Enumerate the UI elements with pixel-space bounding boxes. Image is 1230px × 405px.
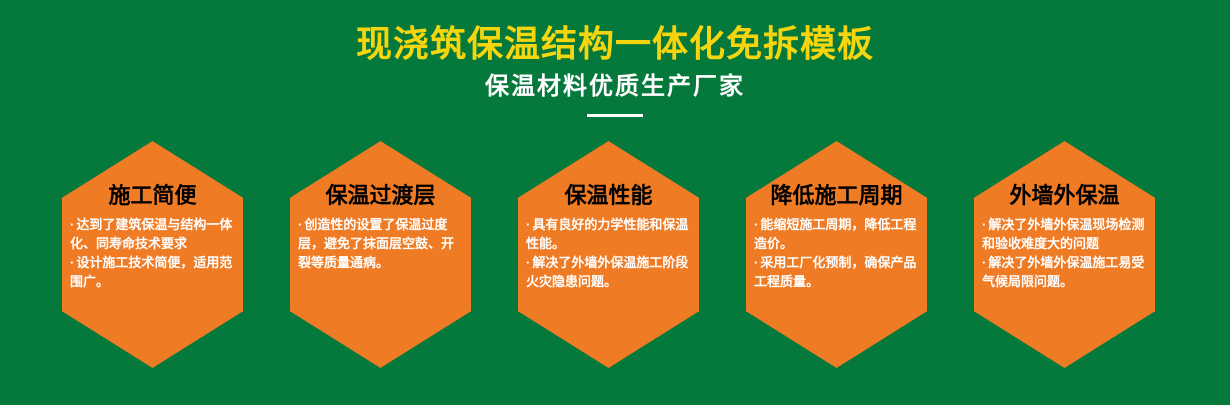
feature-point: 达到了建筑保温与结构一体化、同寿命技术要求 (70, 215, 235, 253)
feature-point-list: 具有良好的力学性能和保温性能。 解决了外墙外保温施工阶段火灾隐患问题。 (524, 209, 693, 291)
page-title: 现浇筑保温结构一体化免拆模板 (0, 0, 1230, 66)
feature-point: 设计施工技术简便，适用范围广。 (70, 253, 235, 291)
feature-point: 采用工厂化预制，确保产品工程质量。 (754, 253, 919, 291)
feature-point: 能缩短施工周期，降低工程造价。 (754, 215, 919, 253)
feature-point: 创造性的设置了保温过度层，避免了抹面层空鼓、开裂等质量通病。 (298, 215, 463, 272)
feature-title: 保温性能 (524, 141, 693, 209)
feature-point: 解决了外墙外保温现场检测和验收难度大的问题 (982, 215, 1147, 253)
feature-point: 解决了外墙外保温施工易受气候局限问题。 (982, 253, 1147, 291)
feature-point-list: 解决了外墙外保温现场检测和验收难度大的问题 解决了外墙外保温施工易受气候局限问题… (980, 209, 1149, 291)
feature-title: 降低施工周期 (752, 141, 921, 209)
feature-title: 外墙外保温 (980, 141, 1149, 209)
feature-point: 解决了外墙外保温施工阶段火灾隐患问题。 (526, 253, 691, 291)
feature-point-list: 达到了建筑保温与结构一体化、同寿命技术要求 设计施工技术简便，适用范围广。 (68, 209, 237, 291)
page-subtitle: 保温材料优质生产厂家 (0, 66, 1230, 102)
feature-hexagon-3[interactable]: 保温性能 具有良好的力学性能和保温性能。 解决了外墙外保温施工阶段火灾隐患问题。 (518, 141, 699, 368)
banner-header: 现浇筑保温结构一体化免拆模板 保温材料优质生产厂家 (0, 0, 1230, 117)
feature-point-list: 创造性的设置了保温过度层，避免了抹面层空鼓、开裂等质量通病。 (296, 209, 465, 272)
promo-banner: 现浇筑保温结构一体化免拆模板 保温材料优质生产厂家 施工简便 达到了建筑保温与结… (0, 0, 1230, 405)
feature-hexagon-5[interactable]: 外墙外保温 解决了外墙外保温现场检测和验收难度大的问题 解决了外墙外保温施工易受… (974, 141, 1155, 368)
feature-point: 具有良好的力学性能和保温性能。 (526, 215, 691, 253)
feature-title: 施工简便 (68, 141, 237, 209)
feature-title: 保温过渡层 (296, 141, 465, 209)
title-divider (587, 114, 643, 117)
feature-hexagon-row: 施工简便 达到了建筑保温与结构一体化、同寿命技术要求 设计施工技术简便，适用范围… (62, 141, 1168, 381)
feature-hexagon-4[interactable]: 降低施工周期 能缩短施工周期，降低工程造价。 采用工厂化预制，确保产品工程质量。 (746, 141, 927, 368)
feature-hexagon-1[interactable]: 施工简便 达到了建筑保温与结构一体化、同寿命技术要求 设计施工技术简便，适用范围… (62, 141, 243, 368)
feature-point-list: 能缩短施工周期，降低工程造价。 采用工厂化预制，确保产品工程质量。 (752, 209, 921, 291)
feature-hexagon-2[interactable]: 保温过渡层 创造性的设置了保温过度层，避免了抹面层空鼓、开裂等质量通病。 (290, 141, 471, 368)
